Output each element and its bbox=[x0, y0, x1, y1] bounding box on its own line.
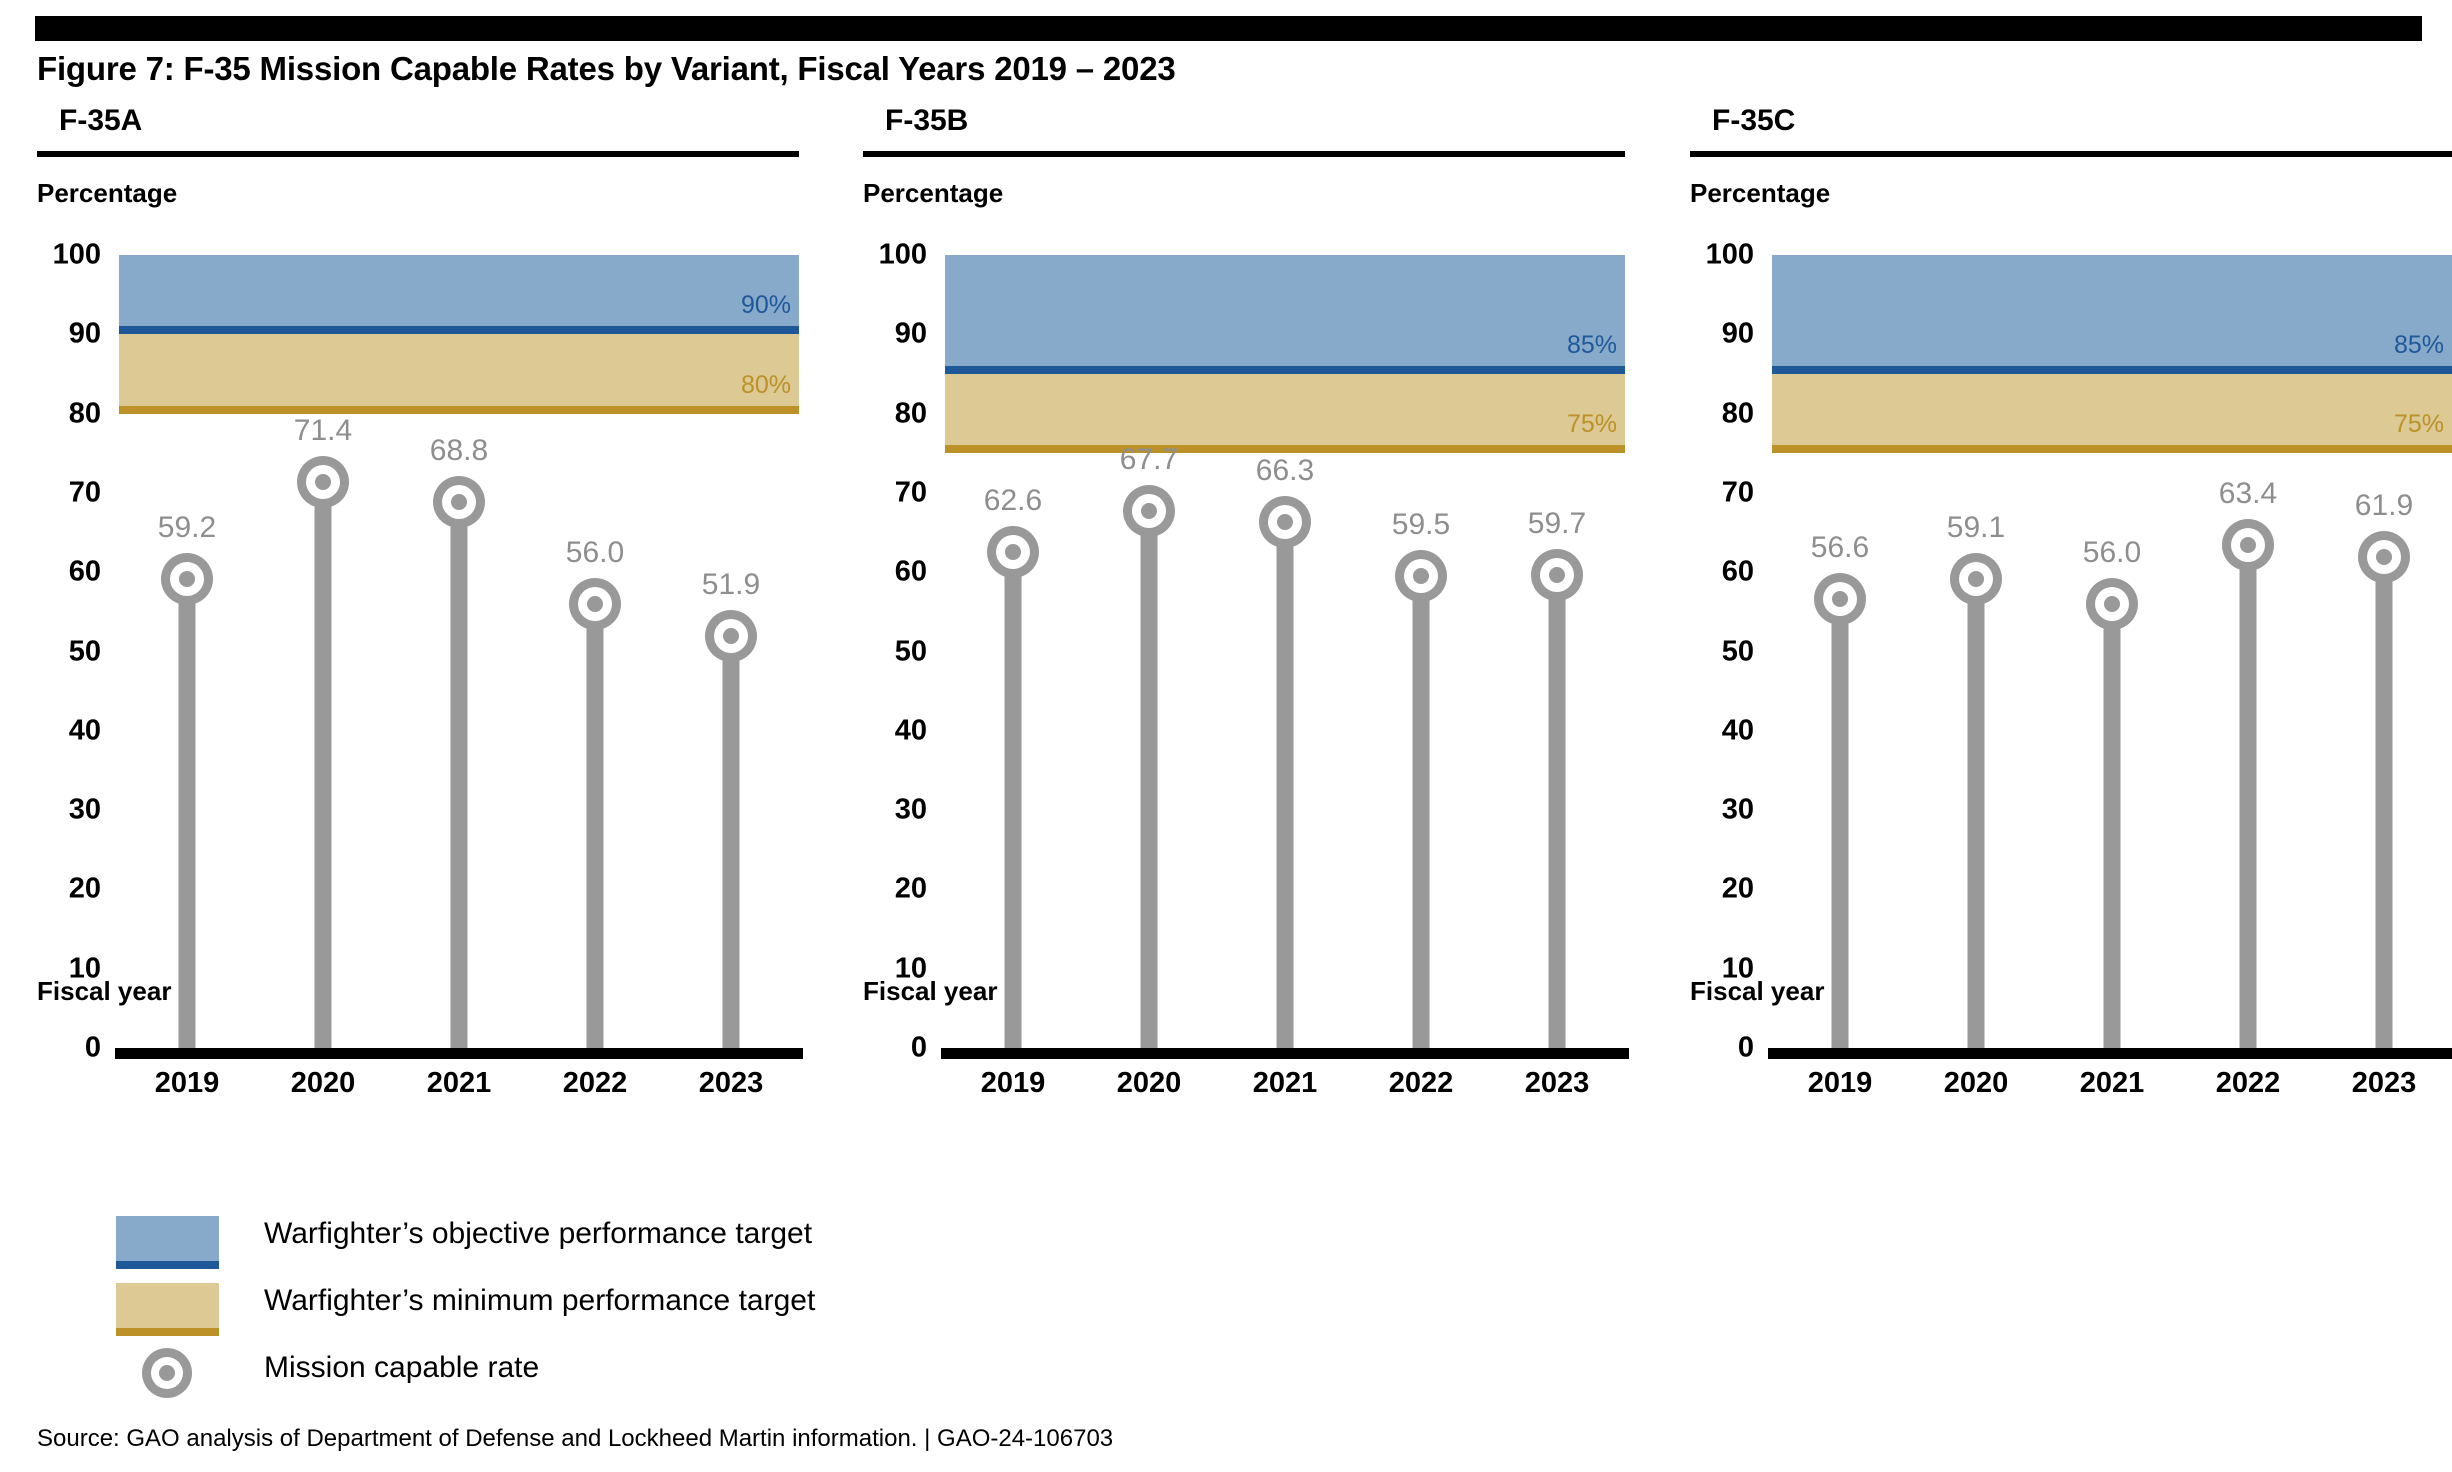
minimum-target-band bbox=[945, 374, 1625, 453]
panel-rule bbox=[863, 151, 1625, 157]
legend-item-objective: Warfighter’s objective performance targe… bbox=[116, 1208, 1316, 1275]
data-point-label: 59.5 bbox=[1392, 508, 1450, 542]
x-axis-tick: 2023 bbox=[699, 1067, 764, 1100]
data-point-stem bbox=[2240, 545, 2257, 1048]
y-axis-tick: 60 bbox=[847, 556, 927, 589]
plot-area-f35b: 85%75%100908070605040302010062.6201967.7… bbox=[945, 255, 1625, 1048]
objective-target-label: 90% bbox=[741, 291, 791, 320]
minimum-target-band bbox=[1772, 374, 2452, 453]
header-rule bbox=[35, 16, 2422, 41]
data-point-stem bbox=[2104, 604, 2121, 1048]
chart-panel-f35b: F-35B Percentage 85%75%10090807060504030… bbox=[863, 104, 1625, 1184]
y-axis-tick: 100 bbox=[1674, 239, 1754, 272]
legend-label: Warfighter’s minimum performance target bbox=[264, 1284, 815, 1318]
x-axis-line bbox=[1768, 1048, 2452, 1059]
y-axis-tick: 80 bbox=[21, 397, 101, 430]
data-point-label: 67.7 bbox=[1120, 443, 1178, 477]
objective-target-line bbox=[119, 326, 799, 334]
y-axis-tick: 0 bbox=[21, 1032, 101, 1065]
chart-panel-f35a: F-35A Percentage 90%80%10090807060504030… bbox=[37, 104, 799, 1184]
data-point-label: 66.3 bbox=[1256, 454, 1314, 488]
minimum-target-band bbox=[119, 334, 799, 413]
y-axis-tick: 70 bbox=[21, 476, 101, 509]
data-point-label: 63.4 bbox=[2219, 477, 2277, 511]
data-point-stem bbox=[1549, 575, 1566, 1048]
data-point-stem bbox=[1005, 552, 1022, 1048]
figure-title: Figure 7: F-35 Mission Capable Rates by … bbox=[37, 50, 1176, 88]
objective-target-line bbox=[945, 366, 1625, 374]
y-axis-tick: 80 bbox=[1674, 397, 1754, 430]
x-axis-tick: 2021 bbox=[427, 1067, 492, 1100]
y-axis-tick: 70 bbox=[1674, 476, 1754, 509]
y-axis-tick: 40 bbox=[1674, 714, 1754, 747]
panel-title-f35b: F-35B bbox=[885, 104, 968, 138]
x-axis-tick: 2020 bbox=[1944, 1067, 2009, 1100]
data-point-label: 59.7 bbox=[1528, 507, 1586, 541]
y-axis-tick: 90 bbox=[21, 318, 101, 351]
y-axis-tick: 50 bbox=[847, 635, 927, 668]
y-axis-tick: 20 bbox=[21, 873, 101, 906]
x-axis-line bbox=[115, 1048, 803, 1059]
x-axis-title: Fiscal year bbox=[863, 976, 997, 1007]
mission-capable-marker-icon[interactable] bbox=[1531, 549, 1583, 601]
data-point-label: 56.6 bbox=[1811, 531, 1869, 565]
y-axis-tick: 100 bbox=[21, 239, 101, 272]
objective-target-band bbox=[945, 255, 1625, 374]
data-point-label: 56.0 bbox=[2083, 536, 2141, 570]
mission-capable-marker-icon[interactable] bbox=[297, 456, 349, 508]
y-axis-tick: 90 bbox=[847, 318, 927, 351]
y-axis-tick: 30 bbox=[1674, 794, 1754, 827]
y-axis-tick: 60 bbox=[21, 556, 101, 589]
data-point-label: 59.1 bbox=[1947, 511, 2005, 545]
legend-label: Mission capable rate bbox=[264, 1351, 539, 1385]
x-axis-tick: 2023 bbox=[2352, 1067, 2417, 1100]
legend: Warfighter’s objective performance targe… bbox=[116, 1208, 1316, 1409]
mission-capable-marker-icon[interactable] bbox=[987, 526, 1039, 578]
y-axis-tick: 60 bbox=[1674, 556, 1754, 589]
legend-label: Warfighter’s objective performance targe… bbox=[264, 1217, 812, 1251]
minimum-target-label: 80% bbox=[741, 371, 791, 400]
objective-target-band bbox=[119, 255, 799, 334]
y-axis-tick: 100 bbox=[847, 239, 927, 272]
mission-capable-marker-icon[interactable] bbox=[2358, 531, 2410, 583]
y-axis-tick: 50 bbox=[21, 635, 101, 668]
minimum-target-line bbox=[1772, 445, 2452, 453]
legend-item-minimum: Warfighter’s minimum performance target bbox=[116, 1275, 1316, 1342]
y-axis-tick: 20 bbox=[1674, 873, 1754, 906]
data-point-stem bbox=[723, 636, 740, 1048]
data-point-label: 61.9 bbox=[2355, 489, 2413, 523]
y-axis-tick: 40 bbox=[21, 714, 101, 747]
mission-capable-marker-icon[interactable] bbox=[1123, 485, 1175, 537]
panel-title-f35a: F-35A bbox=[59, 104, 142, 138]
y-axis-caption: Percentage bbox=[1690, 178, 1830, 209]
minimum-target-label: 75% bbox=[2394, 410, 2444, 439]
x-axis-tick: 2020 bbox=[291, 1067, 356, 1100]
x-axis-tick: 2020 bbox=[1117, 1067, 1182, 1100]
x-axis-tick: 2019 bbox=[155, 1067, 220, 1100]
mission-capable-marker-icon[interactable] bbox=[1814, 573, 1866, 625]
minimum-target-line bbox=[945, 445, 1625, 453]
minimum-target-line bbox=[119, 406, 799, 414]
objective-band-swatch bbox=[116, 1216, 219, 1269]
objective-target-line bbox=[1772, 366, 2452, 374]
legend-item-mission-capable: Mission capable rate bbox=[116, 1342, 1316, 1409]
chart-panels: F-35A Percentage 90%80%10090807060504030… bbox=[0, 104, 2452, 1184]
minimum-band-swatch bbox=[116, 1283, 219, 1336]
mission-capable-marker-icon[interactable] bbox=[1259, 496, 1311, 548]
data-point-label: 59.2 bbox=[158, 511, 216, 545]
data-point-stem bbox=[2376, 557, 2393, 1048]
x-axis-title: Fiscal year bbox=[37, 976, 171, 1007]
objective-target-label: 85% bbox=[2394, 331, 2444, 360]
plot-area-f35c: 85%75%100908070605040302010056.6201959.1… bbox=[1772, 255, 2452, 1048]
data-point-stem bbox=[315, 482, 332, 1048]
objective-target-band bbox=[1772, 255, 2452, 374]
mission-capable-marker-icon[interactable] bbox=[569, 578, 621, 630]
y-axis-tick: 20 bbox=[847, 873, 927, 906]
panel-title-f35c: F-35C bbox=[1712, 104, 1795, 138]
data-point-label: 71.4 bbox=[294, 414, 352, 448]
data-point-stem bbox=[587, 604, 604, 1048]
x-axis-tick: 2022 bbox=[2216, 1067, 2281, 1100]
data-point-stem bbox=[1141, 511, 1158, 1048]
data-point-label: 51.9 bbox=[702, 568, 760, 602]
panel-rule bbox=[37, 151, 799, 157]
source-note: Source: GAO analysis of Department of De… bbox=[37, 1425, 1113, 1453]
y-axis-tick: 70 bbox=[847, 476, 927, 509]
mission-capable-marker-icon[interactable] bbox=[1395, 550, 1447, 602]
x-axis-tick: 2019 bbox=[1808, 1067, 1873, 1100]
mission-capable-marker-icon[interactable] bbox=[705, 610, 757, 662]
data-point-stem bbox=[1968, 579, 1985, 1048]
y-axis-tick: 0 bbox=[847, 1032, 927, 1065]
minimum-target-label: 75% bbox=[1567, 410, 1617, 439]
x-axis-tick: 2021 bbox=[2080, 1067, 2145, 1100]
mission-capable-marker-icon bbox=[142, 1348, 192, 1398]
data-point-stem bbox=[451, 502, 468, 1048]
y-axis-caption: Percentage bbox=[37, 178, 177, 209]
y-axis-tick: 30 bbox=[21, 794, 101, 827]
data-point-stem bbox=[1277, 522, 1294, 1048]
mission-capable-marker-icon[interactable] bbox=[1950, 553, 2002, 605]
data-point-label: 56.0 bbox=[566, 536, 624, 570]
chart-panel-f35c: F-35C Percentage 85%75%10090807060504030… bbox=[1690, 104, 2452, 1184]
mission-capable-marker-icon[interactable] bbox=[433, 476, 485, 528]
x-axis-title: Fiscal year bbox=[1690, 976, 1824, 1007]
mission-capable-marker-icon[interactable] bbox=[161, 553, 213, 605]
data-point-stem bbox=[179, 579, 196, 1048]
y-axis-tick: 50 bbox=[1674, 635, 1754, 668]
data-point-stem bbox=[1832, 599, 1849, 1048]
data-point-label: 62.6 bbox=[984, 484, 1042, 518]
y-axis-tick: 40 bbox=[847, 714, 927, 747]
x-axis-tick: 2022 bbox=[563, 1067, 628, 1100]
plot-area-f35a: 90%80%100908070605040302010059.2201971.4… bbox=[119, 255, 799, 1048]
y-axis-tick: 30 bbox=[847, 794, 927, 827]
y-axis-tick: 90 bbox=[1674, 318, 1754, 351]
y-axis-tick: 80 bbox=[847, 397, 927, 430]
x-axis-tick: 2023 bbox=[1525, 1067, 1590, 1100]
data-point-label: 68.8 bbox=[430, 434, 488, 468]
objective-target-label: 85% bbox=[1567, 331, 1617, 360]
y-axis-caption: Percentage bbox=[863, 178, 1003, 209]
x-axis-tick: 2019 bbox=[981, 1067, 1046, 1100]
mission-capable-marker-icon[interactable] bbox=[2086, 578, 2138, 630]
x-axis-tick: 2021 bbox=[1253, 1067, 1318, 1100]
data-point-stem bbox=[1413, 576, 1430, 1048]
y-axis-tick: 0 bbox=[1674, 1032, 1754, 1065]
panel-rule bbox=[1690, 151, 2452, 157]
x-axis-tick: 2022 bbox=[1389, 1067, 1454, 1100]
x-axis-line bbox=[941, 1048, 1629, 1059]
mission-capable-marker-icon[interactable] bbox=[2222, 519, 2274, 571]
